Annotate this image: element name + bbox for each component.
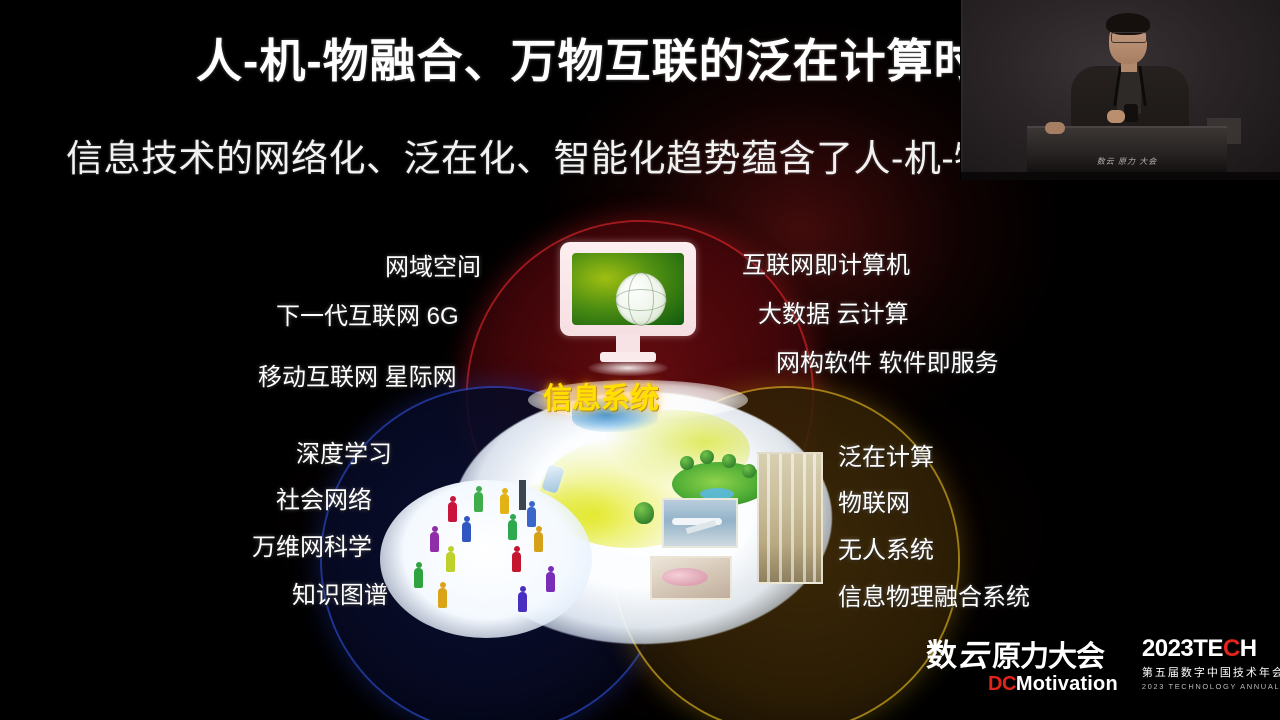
keyword-top-left-1: 网域空间 [385, 247, 481, 282]
keyword-bottom-left-3: 万维网科学 [252, 527, 372, 562]
keyword-bottom-left-4: 知识图谱 [292, 575, 388, 610]
keyword-bottom-left-1: 深度学习 [296, 434, 392, 469]
speaker-glasses [1111, 32, 1147, 43]
keyword-top-right-3: 网构软件 软件即服务 [776, 343, 999, 378]
logo-char-yun: 云 [957, 630, 987, 675]
slide-stage: 人-机-物融合、万物互联的泛在计算时代 信息技术的网络化、泛在化、智能化趋势蕴含… [0, 0, 1280, 720]
monitor-neck [616, 334, 640, 354]
logo-text-motivation: Motivation [1016, 673, 1118, 696]
speaker-video-overlay[interactable]: 数云 原力 大会 [960, 0, 1280, 180]
photo-skyscraper [757, 452, 823, 584]
logo-text-yuanli: 原力大会 [992, 633, 1104, 675]
person-figure [462, 522, 471, 542]
speaker-hand-right [1107, 110, 1125, 123]
logo-c-accent-icon: C [1223, 635, 1240, 662]
monitor-glow [588, 360, 668, 376]
globe-icon [616, 273, 666, 325]
signal-post-icon [519, 480, 526, 510]
venn-diagram: 信息系统 人类社会 物理系统 [0, 180, 1280, 680]
person-figure [438, 588, 447, 608]
person-figure [508, 520, 517, 540]
logo-dc-motivation: 数 云 原力大会 DC Motivation [926, 636, 1118, 690]
video-floor [961, 172, 1280, 180]
keyword-top-right-2: 大数据 云计算 [758, 294, 909, 329]
tree-icon [742, 464, 756, 478]
logo-year: 2023 [1142, 635, 1193, 662]
tree-icon [700, 450, 714, 464]
keyword-bottom-right-1: 泛在计算 [838, 437, 934, 472]
caption-information-system: 信息系统 [543, 375, 659, 417]
keyword-top-right-1: 互联网即计算机 [742, 245, 910, 280]
keyword-bottom-left-2: 社会网络 [276, 480, 372, 515]
logo-char-shu: 数 [926, 630, 956, 675]
person-figure [474, 492, 483, 512]
conference-logos: 数 云 原力大会 DC Motivation 2023TECH 第五届数字中国技… [926, 632, 1270, 694]
monitor-icon [560, 242, 696, 362]
person-figure [430, 532, 439, 552]
tree-icon [634, 502, 654, 524]
monitor-screen [572, 253, 684, 325]
logo-tech-summit: 2023TECH 第五届数字中国技术年会 2023 TECHNOLOGY ANN… [1142, 636, 1280, 690]
person-figure [534, 532, 543, 552]
person-figure [500, 494, 509, 514]
person-figure [512, 552, 521, 572]
logo-word-te: TE [1193, 635, 1223, 662]
tree-icon [722, 454, 736, 468]
person-figure [446, 552, 455, 572]
logo-subtitle-en: 2023 TECHNOLOGY ANNUAL SUMMIT [1142, 682, 1280, 691]
keyword-top-left-3: 移动互联网 星际网 [258, 357, 457, 392]
speaker-hand-left [1045, 122, 1065, 134]
logo-word-h: H [1240, 635, 1257, 662]
person-figure [414, 568, 423, 588]
speaker-badge [1124, 104, 1138, 122]
keyword-bottom-right-2: 物联网 [838, 483, 910, 518]
monitor-frame [560, 242, 696, 336]
person-figure [518, 592, 527, 612]
photo-airplane [662, 498, 738, 548]
photo-machinery [650, 556, 732, 600]
person-figure [448, 502, 457, 522]
tree-icon [680, 456, 694, 470]
person-figure [527, 507, 536, 527]
people-network [380, 480, 592, 638]
keyword-bottom-right-4: 信息物理融合系统 [838, 577, 1030, 612]
podium-text: 数云 原力 大会 [1027, 156, 1227, 167]
keyword-bottom-right-3: 无人系统 [838, 530, 934, 565]
person-figure [546, 572, 555, 592]
logo-text-dc: DC [988, 673, 1016, 696]
slide-title: 人-机-物融合、万物互联的泛在计算时代 [196, 36, 1028, 87]
slide-subtitle: 信息技术的网络化、泛在化、智能化趋势蕴含了人-机-物 [66, 128, 992, 182]
logo-subtitle-cn: 第五届数字中国技术年会 [1142, 664, 1280, 680]
keyword-top-left-2: 下一代互联网 6G [276, 296, 459, 331]
